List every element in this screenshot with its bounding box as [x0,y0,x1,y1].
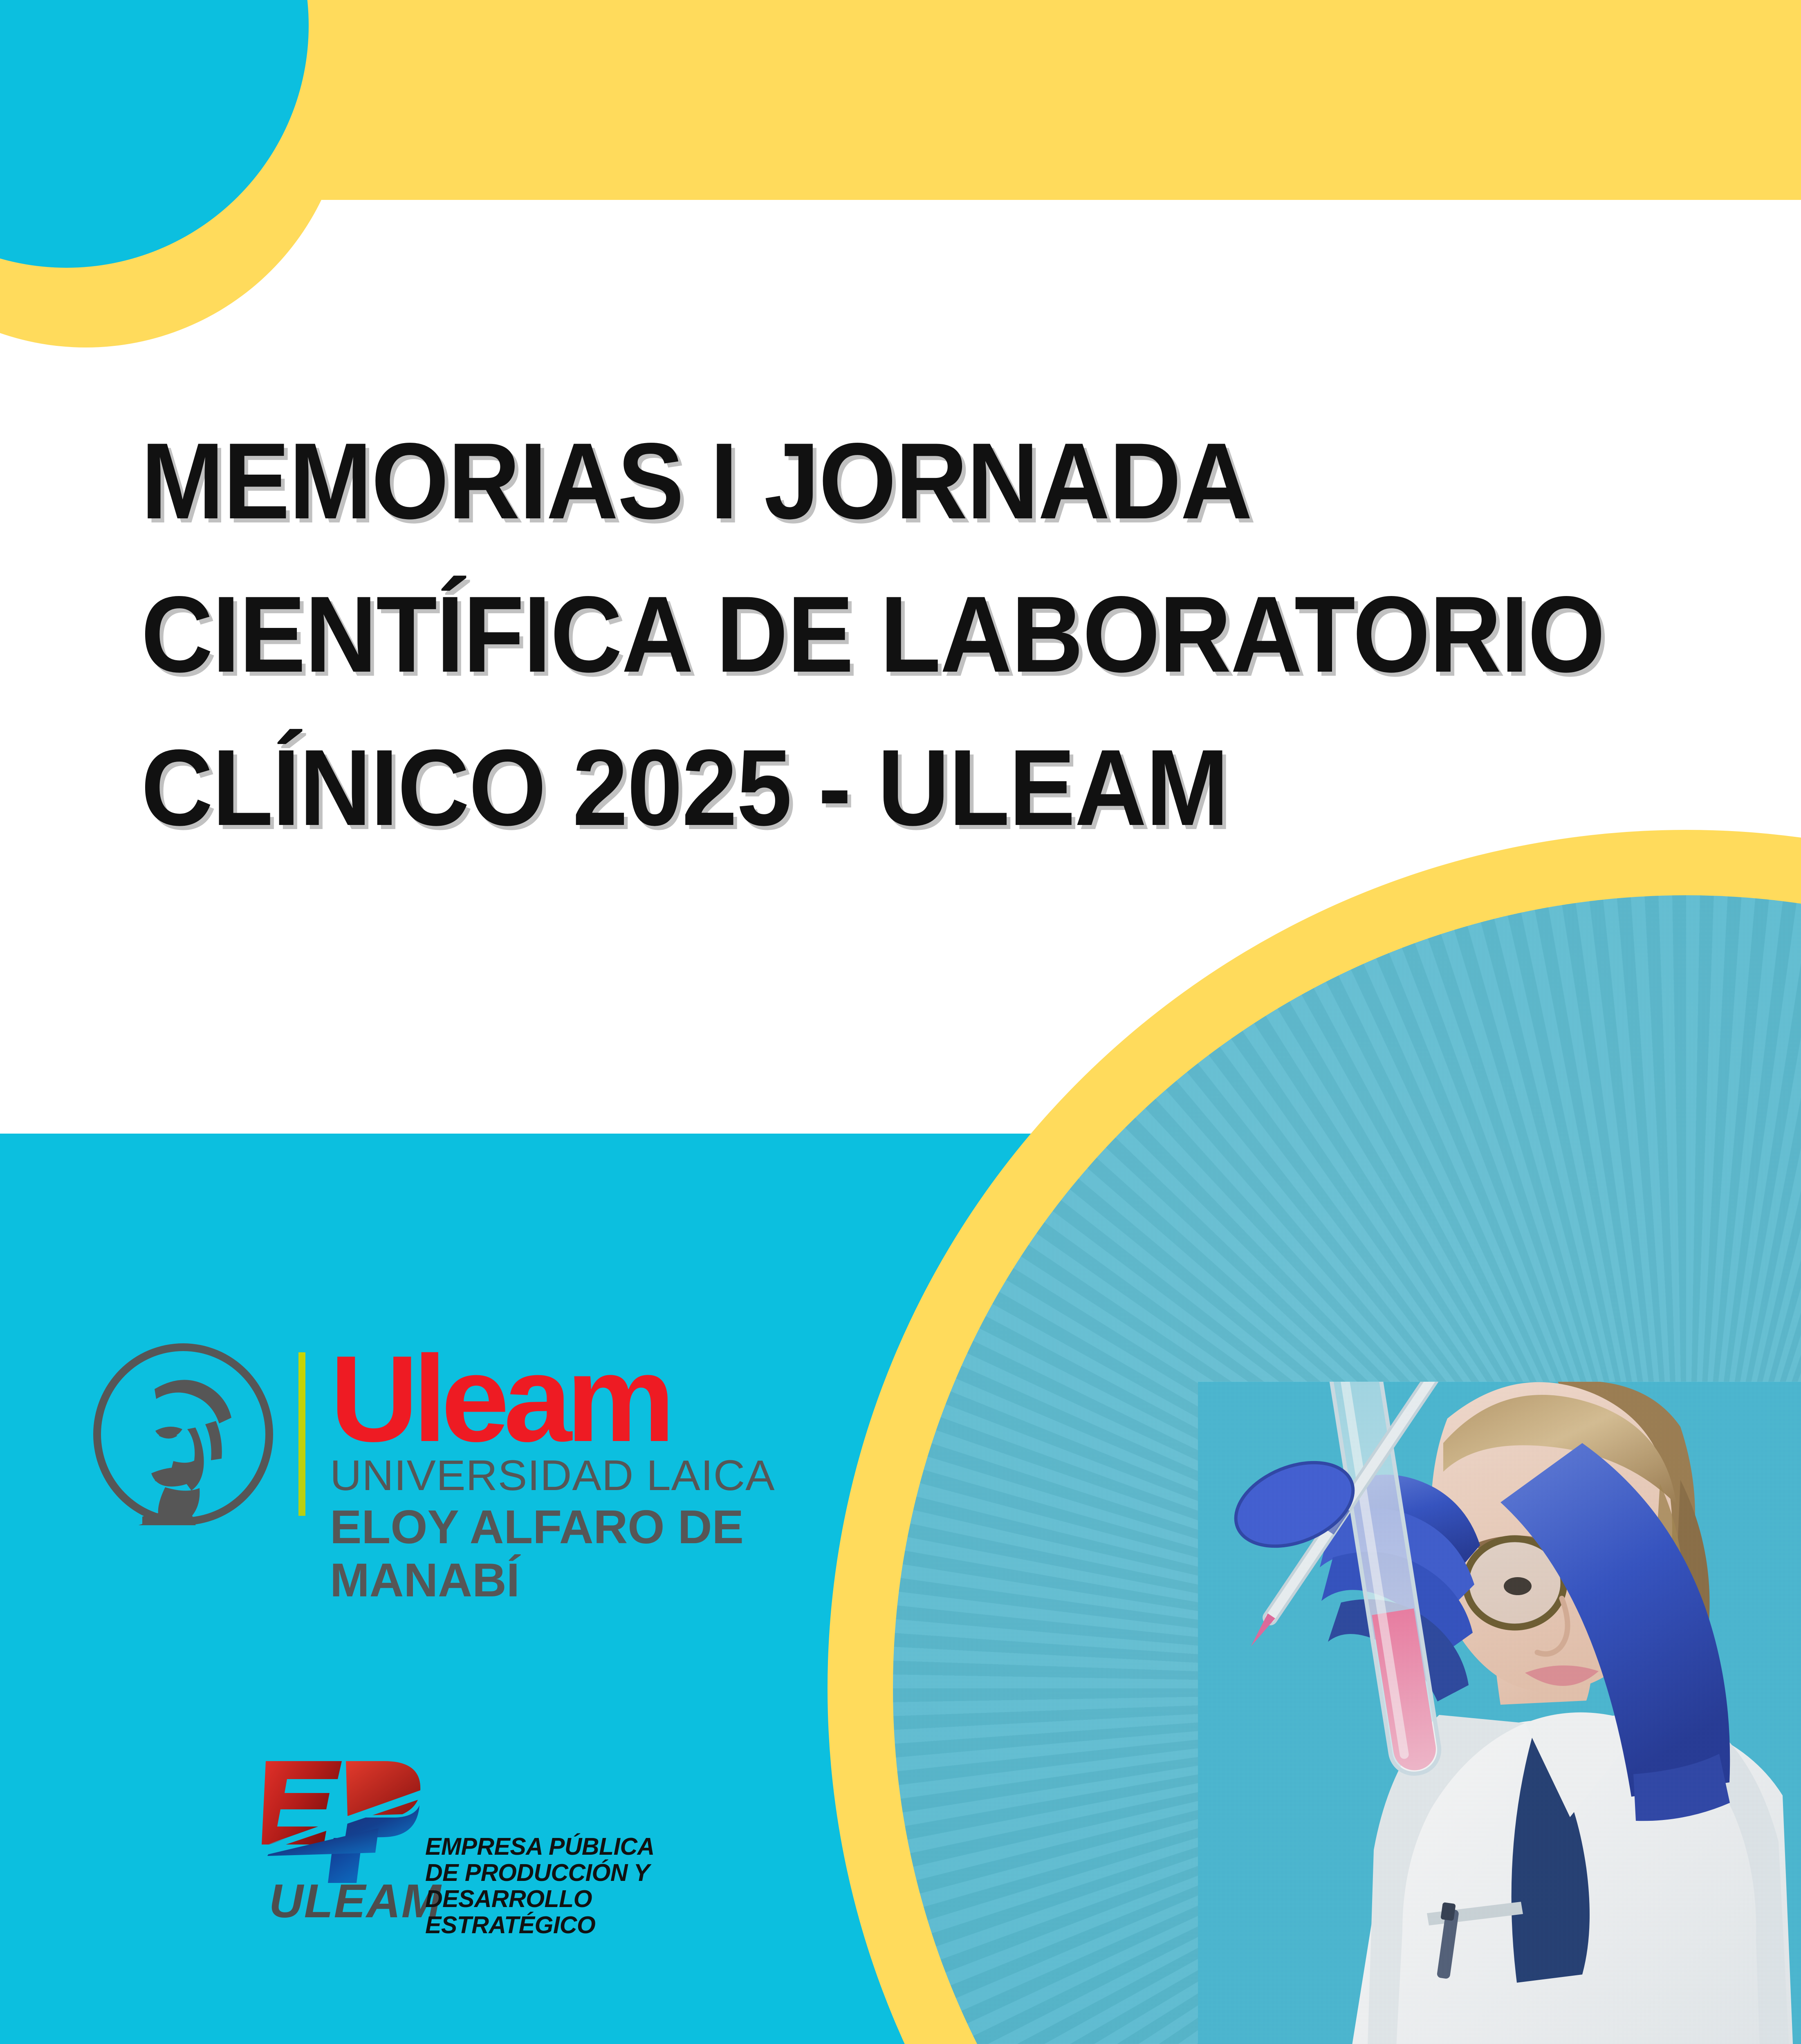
ep-institution-label: ULEAM [269,1877,442,1925]
title-line-3: CLÍNICO 2025 - ULEAM [141,711,1495,865]
cover-title: MEMORIAS I JORNADA CIENTÍFICA DE LABORAT… [141,405,1495,865]
uleam-wordmark-block: Uleam UNIVERSIDAD LAICA ELOY ALFARO DE M… [330,1343,841,1607]
eloy-alfaro-medallion-icon [93,1343,273,1525]
ep-uleam-logo: ULEAM EMPRESA PÚBLICA DE PRODUCCIÓN Y DE… [262,1758,711,1921]
title-line-2: CIENTÍFICA DE LABORATORIO [141,558,1495,711]
uleam-subtitle-line-1: UNIVERSIDAD LAICA [330,1451,852,1500]
book-cover: MEMORIAS I JORNADA CIENTÍFICA DE LABORAT… [0,0,1801,2044]
ep-monogram-icon [262,1758,433,1885]
uleam-wordmark: Uleam [330,1346,841,1451]
eloy-alfaro-portrait-icon [93,1343,273,1525]
title-line-1: MEMORIAS I JORNADA [141,405,1495,558]
top-yellow-band [311,0,1801,200]
lab-technician-illustration [1198,1382,1801,2044]
lab-technician-photo [1198,1382,1801,2044]
uleam-logo: Uleam UNIVERSIDAD LAICA ELOY ALFARO DE M… [93,1343,841,1535]
ep-description-line-3: DESARROLLO ESTRATÉGICO [425,1886,711,1938]
ep-description-line-2: DE PRODUCCIÓN Y [425,1860,711,1886]
uleam-subtitle-line-2: ELOY ALFARO DE MANABÍ [330,1500,841,1607]
ep-description-block: EMPRESA PÚBLICA DE PRODUCCIÓN Y DESARROL… [425,1833,711,1938]
uleam-lime-divider [298,1352,305,1516]
ep-description-line-1: EMPRESA PÚBLICA [425,1833,711,1860]
